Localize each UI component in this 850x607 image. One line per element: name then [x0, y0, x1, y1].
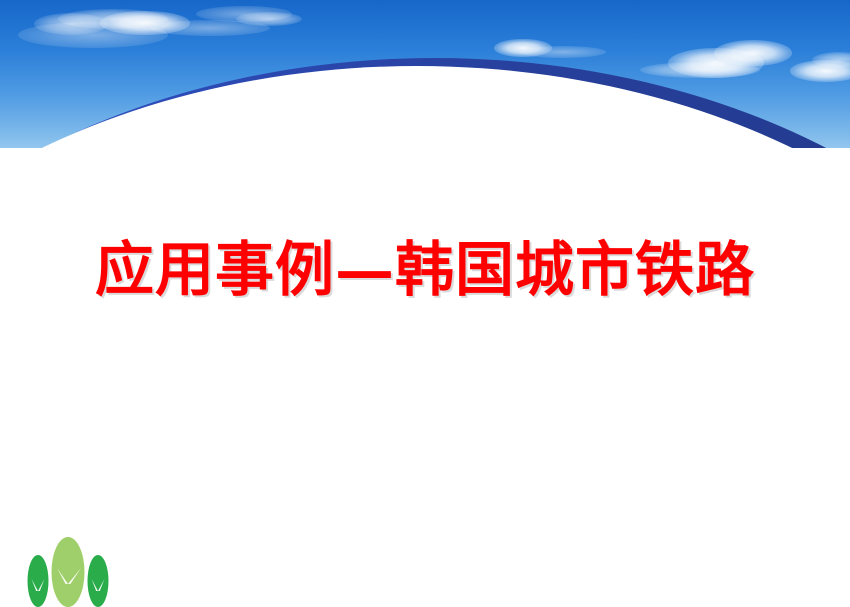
cloud-right-small — [494, 39, 552, 57]
cloud-left-wisp — [18, 22, 168, 48]
cloud-right-big — [668, 48, 764, 78]
cloud-right-wisp — [520, 46, 606, 58]
leaf-center-icon — [52, 537, 85, 607]
cloud-right-trail — [640, 62, 760, 78]
cloud-upper-center — [58, 9, 168, 29]
leaf-right-icon — [88, 555, 109, 607]
cloud-mid-wisp — [196, 6, 292, 22]
cloud-right-big2 — [714, 40, 792, 66]
leaf-left-icon — [28, 555, 49, 607]
title-placeholder[interactable]: 应用事例—韩国城市铁路 — [0, 238, 850, 302]
cloud-far-right — [790, 60, 850, 82]
leaf-logo-graphic — [22, 527, 114, 607]
slide-canvas: 应用事例—韩国城市铁路 — [0, 0, 850, 607]
cloud-left-puff — [34, 13, 108, 35]
cloud-trail-left — [150, 20, 270, 36]
three-leaf-logo — [22, 527, 114, 607]
cloud-small-center — [236, 12, 302, 26]
cloud-main-left — [100, 11, 190, 35]
cloud-far-right2 — [812, 52, 850, 68]
slide-title: 应用事例—韩国城市铁路 — [95, 238, 755, 302]
slide-body — [0, 148, 850, 607]
